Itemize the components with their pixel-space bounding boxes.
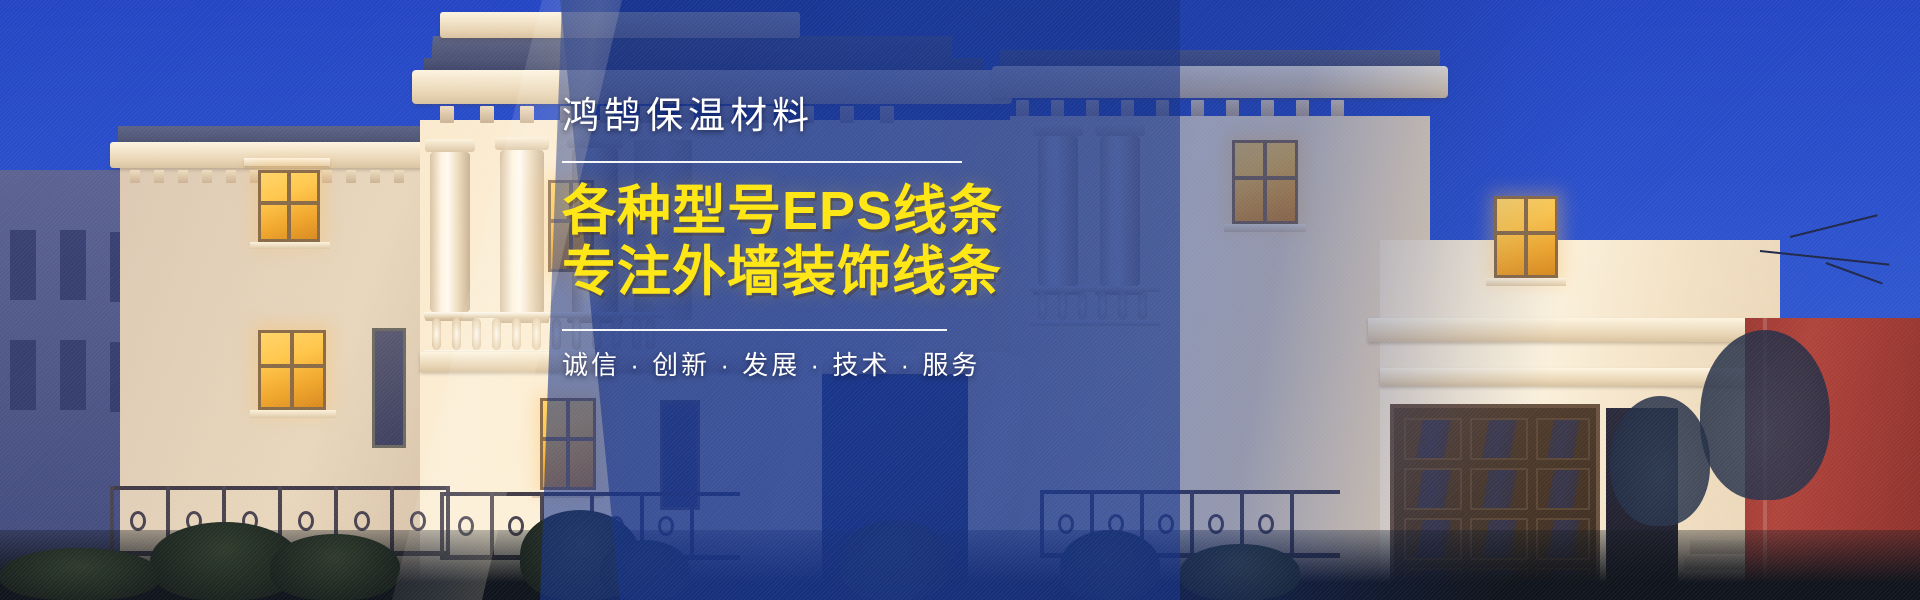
brand-name: 鸿鹄保温材料 (562, 96, 1082, 137)
villa-column (430, 152, 470, 312)
tagline: 诚信 · 创新 · 发展 · 技术 · 服务 (562, 345, 1082, 382)
villa-window-lit (258, 330, 326, 410)
headline-line-2: 专注外墙装饰线条 (562, 242, 1082, 303)
shrub (270, 534, 400, 600)
banner-copy: 鸿鹄保温材料 各种型号EPS线条 专注外墙装饰线条 诚信 · 创新 · 发展 ·… (562, 96, 1082, 382)
window-sill (250, 242, 330, 249)
villa-window-lit (258, 170, 320, 242)
window-sill (250, 410, 336, 418)
headline-line-1: 各种型号EPS线条 (562, 181, 1082, 242)
divider-bottom (562, 329, 947, 331)
divider-top (562, 161, 962, 163)
villa-window-dark (372, 328, 406, 448)
shrub (0, 548, 160, 600)
window-hood (244, 158, 330, 166)
hero-banner: 鸿鹄保温材料 各种型号EPS线条 专注外墙装饰线条 诚信 · 创新 · 发展 ·… (0, 0, 1920, 600)
